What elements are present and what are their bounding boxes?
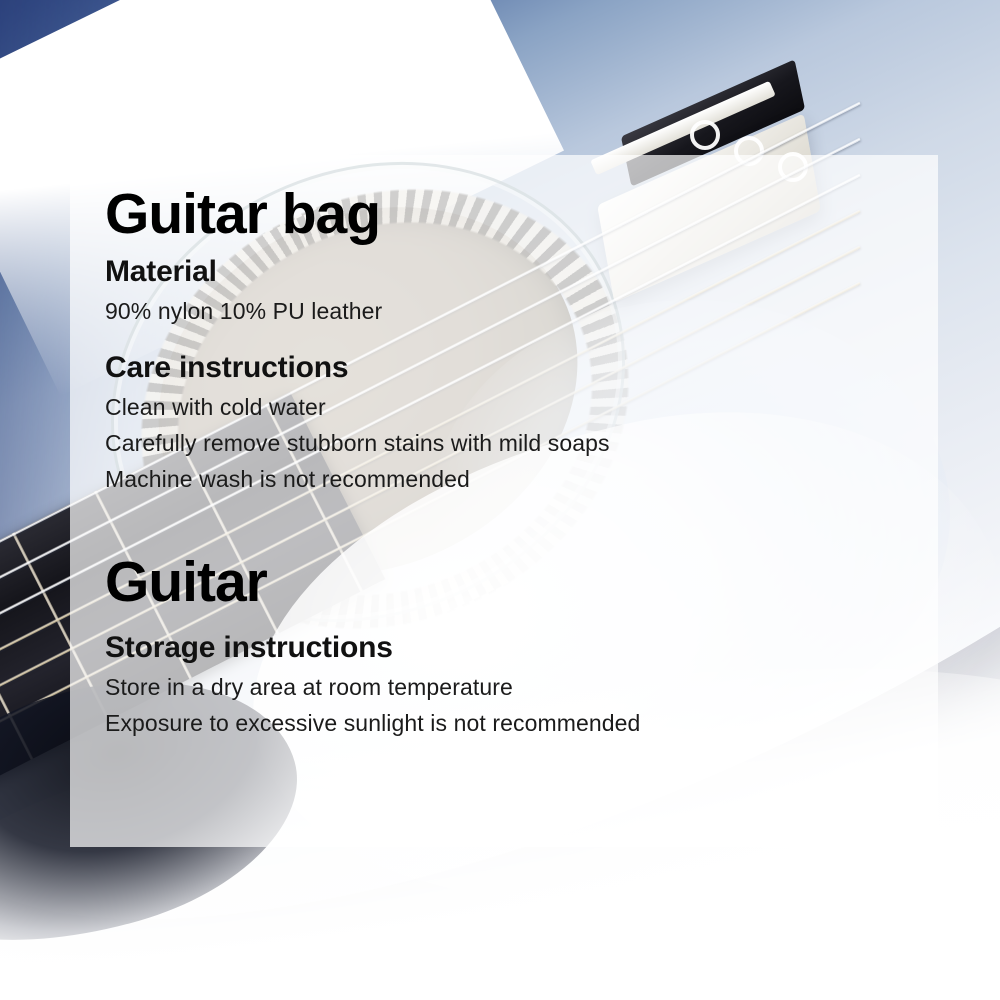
heading-care-instructions: Care instructions [105,351,938,385]
heading-storage-instructions: Storage instructions [105,631,938,665]
care-instruction-line: Clean with cold water [105,394,938,421]
info-overlay-panel: Guitar bag Material 90% nylon 10% PU lea… [70,155,938,847]
storage-instruction-lines: Store in a dry area at room temperature … [105,674,938,737]
section-title-guitar-bag: Guitar bag [105,185,938,243]
string-tie-knot [690,120,720,150]
storage-instruction-line: Exposure to excessive sunlight is not re… [105,710,938,737]
material-lines: 90% nylon 10% PU leather [105,298,938,325]
care-instruction-line: Machine wash is not recommended [105,466,938,493]
care-instruction-lines: Clean with cold water Carefully remove s… [105,394,938,493]
storage-instruction-line: Store in a dry area at room temperature [105,674,938,701]
section-title-guitar: Guitar [105,553,938,611]
product-infographic: Guitar bag Material 90% nylon 10% PU lea… [0,0,1000,1000]
care-instruction-line: Carefully remove stubborn stains with mi… [105,430,938,457]
material-line: 90% nylon 10% PU leather [105,298,938,325]
heading-material: Material [105,255,938,289]
